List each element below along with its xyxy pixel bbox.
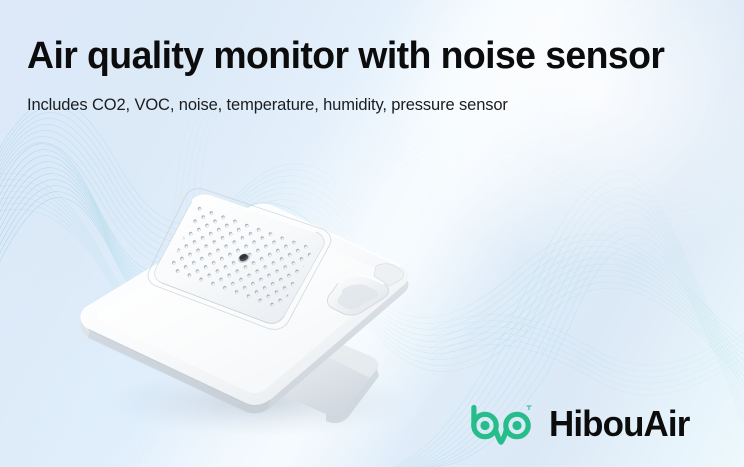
- brand-logo: HibouAir: [466, 398, 694, 450]
- page-title: Air quality monitor with noise sensor: [27, 34, 717, 78]
- page-subtitle: Includes CO2, VOC, noise, temperature, h…: [27, 95, 727, 115]
- headline-block: Air quality monitor with noise sensor In…: [27, 34, 727, 115]
- product-banner: Air quality monitor with noise sensor In…: [0, 0, 744, 467]
- hibouair-owl-logo-icon: [466, 401, 536, 447]
- product-image: [70, 170, 430, 430]
- brand-wordmark: HibouAir: [549, 404, 689, 444]
